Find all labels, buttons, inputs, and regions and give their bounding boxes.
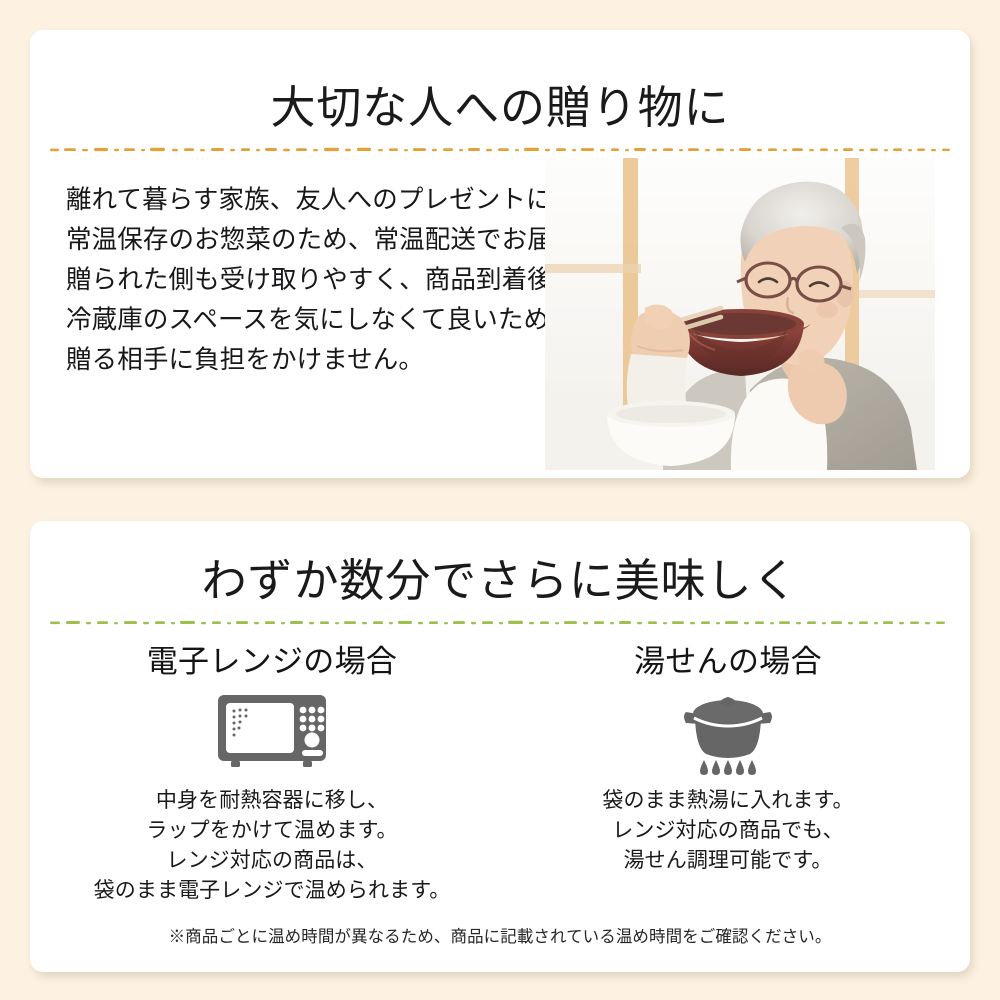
gift-description: 離れて暮らす家族、友人へのプレゼントにも!! 常温保存のお惣菜のため、常温配送で… (66, 180, 566, 380)
microwave-icon-wrapper (52, 689, 492, 781)
hot-water-instruction-line: 袋のまま熱湯に入れます。 (508, 785, 948, 815)
elderly-woman-with-bowl-photo (545, 158, 935, 470)
microwave-instruction-text: 中身を耐熱容器に移し、 ラップをかけて温めます。 レンジ対応の商品は、 袋のまま… (52, 785, 492, 905)
product-info-page: 大切な人への贈り物に (0, 0, 1000, 1000)
hot-water-instruction-line: 湯せん調理可能です。 (508, 845, 948, 875)
hot-water-instruction-column: 湯せんの場合 (508, 641, 948, 875)
gift-section-card: 大切な人への贈り物に (30, 30, 970, 478)
pot-icon (680, 690, 776, 781)
heating-footnote: ※商品ごとに温め時間が異なるため、商品に記載されている温め時間をご確認ください。 (30, 925, 970, 949)
gift-description-line: 贈る相手に負担をかけません。 (66, 340, 566, 380)
hot-water-column-title: 湯せんの場合 (508, 641, 948, 683)
microwave-icon (217, 693, 327, 778)
microwave-column-title: 電子レンジの場合 (52, 641, 492, 683)
green-dashed-divider (48, 617, 952, 627)
microwave-instruction-line: レンジ対応の商品は、 (52, 845, 492, 875)
microwave-instruction-line: ラップをかけて温めます。 (52, 815, 492, 845)
heating-section-title: わずか数分でさらに美味しく (30, 553, 970, 609)
heating-section-card: わずか数分でさらに美味しく (30, 521, 970, 972)
pot-icon-wrapper (508, 689, 948, 781)
hot-water-instruction-line: レンジ対応の商品でも、 (508, 815, 948, 845)
microwave-instruction-column: 電子レンジの場合 (52, 641, 492, 905)
orange-dashed-divider (48, 144, 952, 154)
gift-section-title: 大切な人への贈り物に (30, 80, 970, 136)
gift-description-line: 離れて暮らす家族、友人へのプレゼントにも!! (66, 180, 566, 220)
microwave-instruction-line: 中身を耐熱容器に移し、 (52, 785, 492, 815)
gift-description-line: 冷蔵庫のスペースを気にしなくて良いため、 (66, 300, 566, 340)
gift-description-line: 常温保存のお惣菜のため、常温配送でお届け。 (66, 220, 566, 260)
hot-water-instruction-text: 袋のまま熱湯に入れます。 レンジ対応の商品でも、 湯せん調理可能です。 (508, 785, 948, 875)
gift-description-line: 贈られた側も受け取りやすく、商品到着後に (66, 260, 566, 300)
microwave-instruction-line: 袋のまま電子レンジで温められます。 (52, 875, 492, 905)
